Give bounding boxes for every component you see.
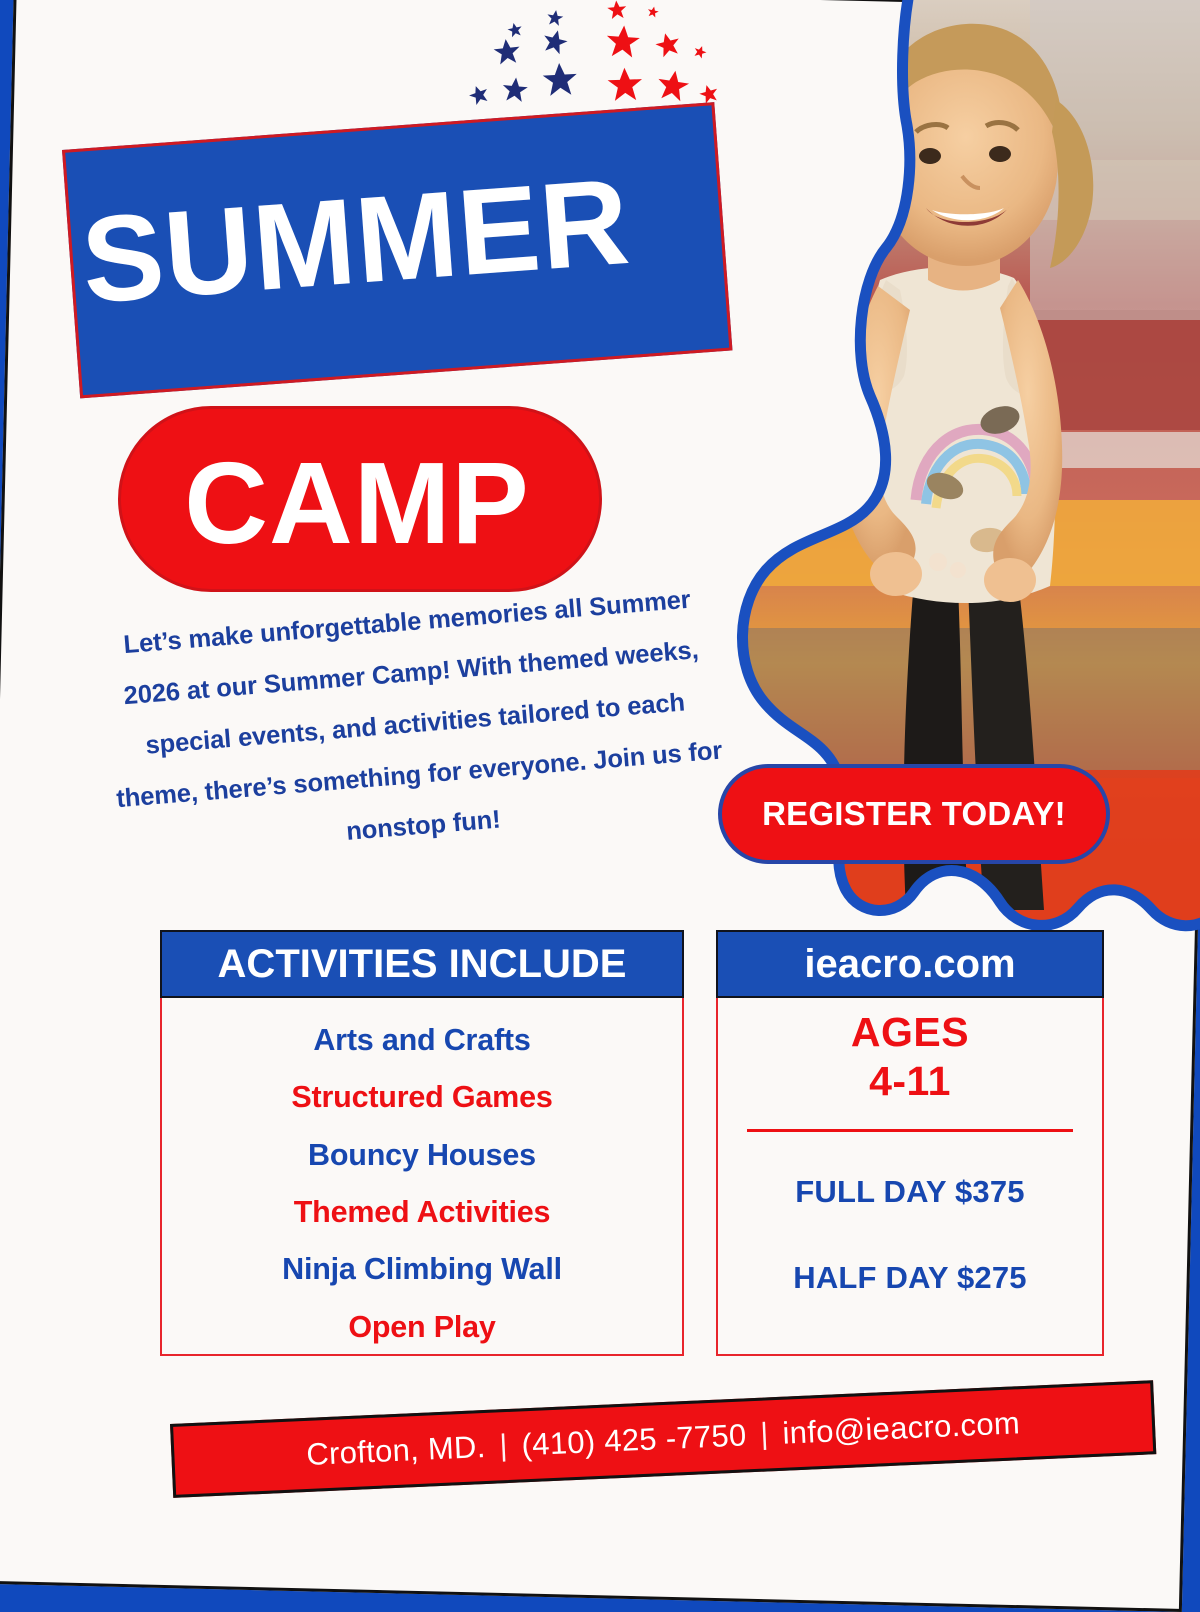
pricing-panel: AGES 4-11 FULL DAY $375 HALF DAY $275 bbox=[716, 998, 1104, 1356]
activity-item: Ninja Climbing Wall bbox=[162, 1241, 682, 1298]
ages-range: 4-11 bbox=[718, 1056, 1102, 1107]
activity-item: Bouncy Houses bbox=[162, 1127, 682, 1184]
intro-paragraph: Let’s make unforgettable memories all Su… bbox=[100, 573, 730, 876]
activities-heading: ACTIVITIES INCLUDE bbox=[160, 930, 684, 998]
price-half-day: HALF DAY $275 bbox=[718, 1260, 1102, 1296]
activity-item: Arts and Crafts bbox=[162, 1012, 682, 1069]
activities-box: ACTIVITIES INCLUDE Arts and Crafts Struc… bbox=[160, 930, 684, 1356]
website-heading[interactable]: ieacro.com bbox=[716, 930, 1104, 998]
activity-item: Themed Activities bbox=[162, 1184, 682, 1241]
register-today-button[interactable]: REGISTER TODAY! bbox=[718, 764, 1110, 864]
activity-item: Open Play bbox=[162, 1299, 682, 1356]
info-box: ieacro.com AGES 4-11 FULL DAY $375 HALF … bbox=[716, 930, 1104, 1356]
title-camp: CAMP bbox=[118, 413, 596, 593]
contact-phone[interactable]: (410) 425 -7750 bbox=[521, 1417, 747, 1463]
activities-list: Arts and Crafts Structured Games Bouncy … bbox=[160, 998, 684, 1356]
divider-rule bbox=[747, 1129, 1073, 1132]
activity-item: Structured Games bbox=[162, 1069, 682, 1126]
contact-separator: | bbox=[485, 1428, 523, 1464]
contact-location: Crofton, MD. bbox=[306, 1429, 487, 1473]
flyer-canvas: SUMMER CAMP Let’s make unforgettable mem… bbox=[0, 0, 1200, 1553]
price-full-day: FULL DAY $375 bbox=[718, 1174, 1102, 1210]
contact-email[interactable]: info@ieacro.com bbox=[782, 1405, 1021, 1452]
ages-label: AGES bbox=[718, 1010, 1102, 1056]
contact-separator: | bbox=[746, 1417, 784, 1453]
